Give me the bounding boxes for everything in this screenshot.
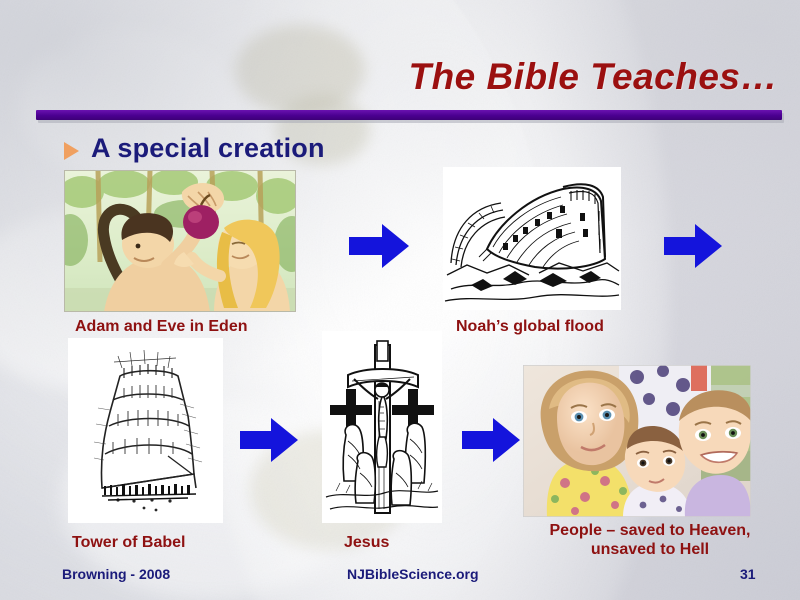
caption-people-heaven-hell: People – saved to Heaven, unsaved to Hel… bbox=[520, 521, 780, 559]
arrow-adam-to-noah-icon bbox=[349, 224, 409, 268]
footer-author: Browning - 2008 bbox=[62, 566, 170, 582]
image-tower-of-babel bbox=[68, 338, 223, 523]
caption-people-line1: People – saved to Heaven, bbox=[520, 521, 780, 540]
arrow-jesus-to-people-icon bbox=[462, 418, 520, 462]
caption-tower-of-babel: Tower of Babel bbox=[72, 533, 186, 552]
image-crucifixion bbox=[322, 331, 442, 523]
image-noahs-ark bbox=[443, 167, 621, 310]
footer-page-number: 31 bbox=[740, 566, 756, 582]
slide-canvas: The Bible Teaches… A special creation bbox=[0, 0, 800, 600]
image-children-photo bbox=[523, 365, 751, 517]
arrow-noah-to-babel-icon bbox=[664, 224, 722, 268]
caption-jesus: Jesus bbox=[344, 533, 389, 552]
triangle-bullet-icon bbox=[64, 142, 79, 160]
bullet-label: A special creation bbox=[91, 133, 325, 164]
caption-noahs-flood: Noah’s global flood bbox=[456, 317, 604, 336]
arrow-babel-to-jesus-icon bbox=[240, 418, 298, 462]
bullet-item: A special creation bbox=[64, 133, 325, 164]
title-underline-bar bbox=[36, 110, 782, 120]
caption-people-line2: unsaved to Hell bbox=[520, 540, 780, 559]
image-adam-and-eve bbox=[64, 170, 296, 312]
footer-website: NJBibleScience.org bbox=[347, 566, 479, 582]
caption-adam-and-eve: Adam and Eve in Eden bbox=[75, 317, 247, 336]
slide-title: The Bible Teaches… bbox=[408, 56, 778, 98]
